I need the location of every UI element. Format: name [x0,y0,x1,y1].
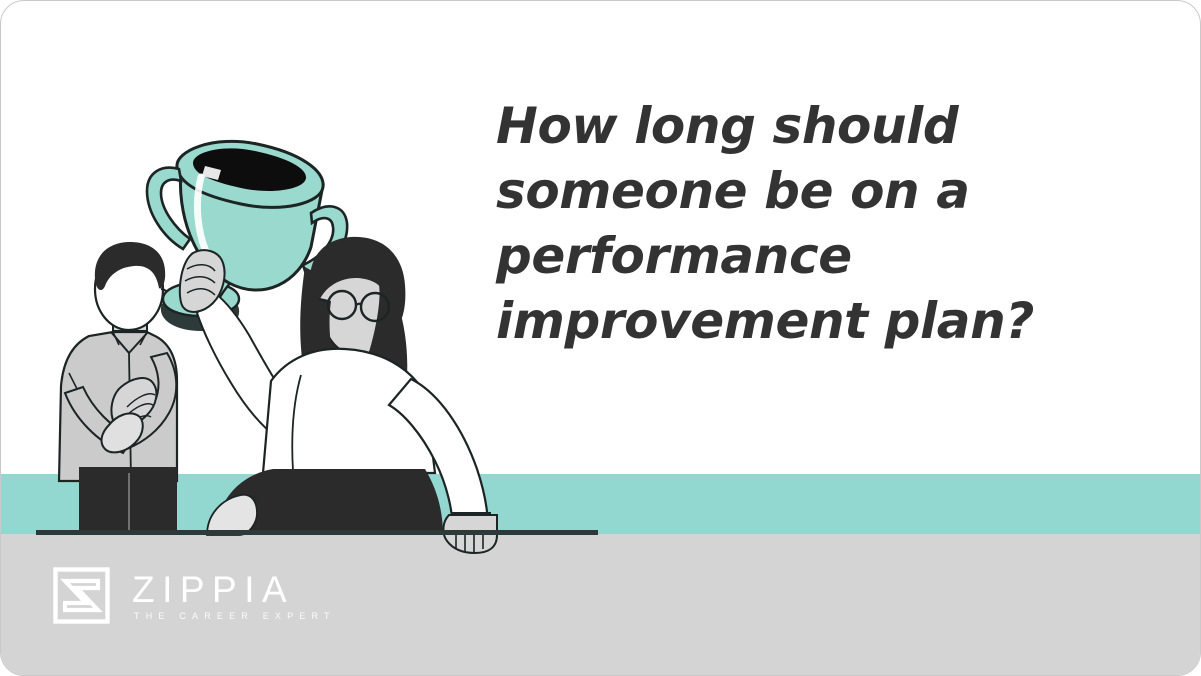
zippia-z-mark [53,567,110,624]
zippia-tagline: THE CAREER EXPERT [132,609,336,623]
glasses-icon [319,291,389,321]
promo-card: How long should someone be on a performa… [0,0,1201,676]
zippia-logo: ZIPPIA THE CAREER EXPERT [53,567,336,624]
page-title: How long should someone be on a performa… [496,94,1056,354]
trophy [147,141,347,331]
trophy-grip-hand [180,250,225,312]
teal-band [1,474,1201,534]
clapping-hands [102,378,157,452]
zippia-wordmark-block: ZIPPIA THE CAREER EXPERT [132,569,336,623]
zippia-wordmark: ZIPPIA [132,571,336,609]
